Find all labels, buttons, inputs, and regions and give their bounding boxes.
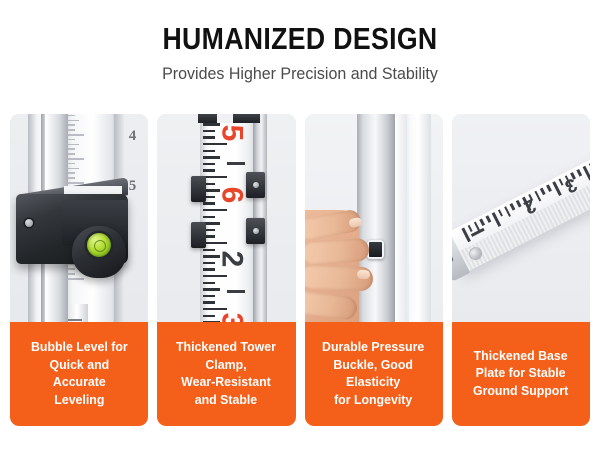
rod-clamp-left-upper (191, 176, 206, 202)
feature-panel-bubble-level[interactable]: 4 5 Bubble Level for Quick and Accurate … (10, 114, 148, 426)
rod-clamp-right-lower (246, 218, 265, 244)
clamp-screw-icon (253, 182, 259, 188)
scale-dash-1 (227, 162, 245, 165)
caption-text: Thickened Tower Clamp, Wear-Resistant an… (176, 339, 276, 409)
panel-caption-base-plate: Thickened Base Plate for Stable Ground S… (452, 322, 590, 426)
page-subtitle: Provides Higher Precision and Stability (9, 63, 591, 85)
clamp-screw-icon (253, 228, 259, 234)
pressure-buckle-button (367, 240, 384, 259)
bubble-level-ring-icon (94, 240, 106, 252)
scale-number-6: 6 (217, 187, 247, 204)
page-title: HUMANIZED DESIGN (42, 22, 558, 56)
caption-text: Bubble Level for Quick and Accurate Leve… (31, 339, 128, 409)
lower-scale-tick (68, 319, 82, 321)
feature-panel-tower-clamp[interactable]: 5 6 2 3 Thickened Tower Clamp, Wear-Resi… (157, 114, 295, 426)
fingernail-ring (356, 270, 370, 280)
scale-dash-2 (227, 290, 245, 293)
clamp-screw-icon (25, 219, 33, 227)
caption-text: Thickened Base Plate for Stable Ground S… (473, 348, 568, 401)
scale-number-2: 2 (217, 251, 247, 268)
panel-caption-pressure-buckle: Durable Pressure Buckle, Good Elasticity… (305, 322, 443, 426)
feature-panel-pressure-buckle[interactable]: Durable Pressure Buckle, Good Elasticity… (305, 114, 443, 426)
panel-caption-bubble-level: Bubble Level for Quick and Accurate Leve… (10, 322, 148, 426)
rod-clamp-left-lower (191, 222, 206, 248)
feature-panel-base-plate[interactable]: 2 3 Thickened Base Plate for Stable Grou… (452, 114, 590, 426)
caption-text: Durable Pressure Buckle, Good Elasticity… (323, 339, 425, 409)
hand-finger-middle (305, 238, 370, 266)
scale-number-5: 5 (129, 178, 137, 195)
rod-clamp-right-upper (246, 172, 265, 198)
panel-caption-tower-clamp: Thickened Tower Clamp, Wear-Resistant an… (157, 322, 295, 426)
scale-number-5: 5 (217, 125, 247, 142)
rod-top-cap-gap (217, 114, 233, 123)
header: HUMANIZED DESIGN Provides Higher Precisi… (0, 0, 600, 85)
scale-number-4: 4 (129, 128, 137, 145)
feature-panel-grid: 4 5 Bubble Level for Quick and Accurate … (10, 114, 590, 426)
